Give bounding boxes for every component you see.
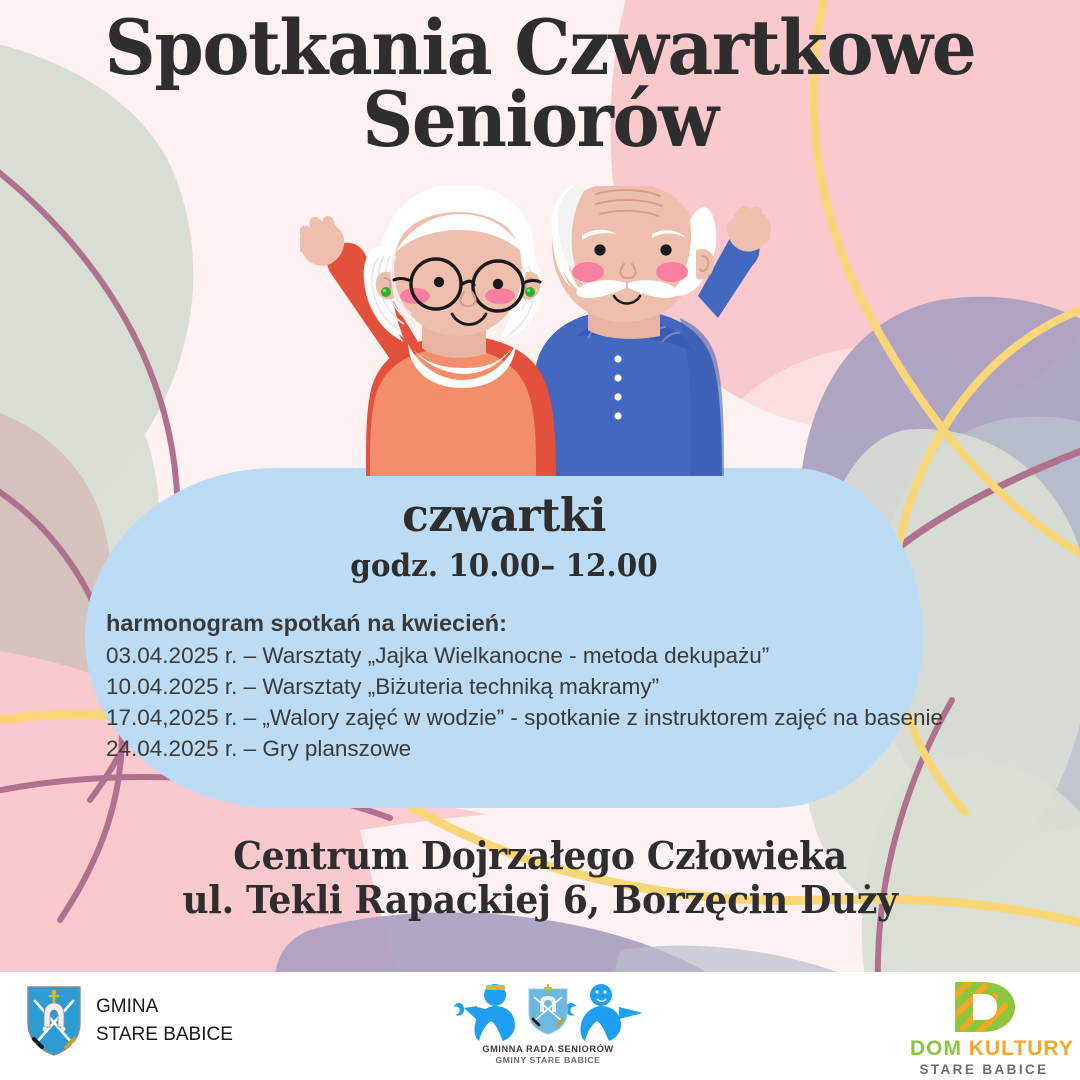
poster-title: Spotkania Czwartkowe Seniorów <box>0 12 1080 156</box>
logo-dk-title: DOM KULTURY <box>910 1037 1058 1061</box>
man-button <box>614 355 621 362</box>
schedule-item: 24.04.2025 r. – Gry planszowe <box>106 733 923 764</box>
footer-logo-bar: GMINA STARE BABICE <box>0 972 1080 1080</box>
logo-gmina-stare-babice: GMINA STARE BABICE <box>26 985 233 1057</box>
logo-dom-kultury: DOM KULTURY STARE BABICE <box>910 980 1058 1077</box>
senior-couple-waving-illustration <box>300 186 790 476</box>
stare-babice-coat-of-arms-shield-icon <box>26 985 82 1057</box>
logo-gmina-text: GMINA STARE BABICE <box>96 993 233 1048</box>
title-line-2: Seniorów <box>38 84 1042 156</box>
logo-dk-word2: KULTURY <box>969 1037 1074 1060</box>
logo-dk-subtitle: STARE BABICE <box>910 1062 1058 1077</box>
schedule-item: 10.04.2025 r. – Warsztaty „Biżuteria tec… <box>106 671 923 702</box>
two-dancing-senior-figures-with-shield-icon <box>433 981 663 1043</box>
logo-dk-word1: DOM <box>910 1037 962 1060</box>
title-line-1: Spotkania Czwartkowe <box>38 12 1042 84</box>
logo-gminna-rada-seniorow: GMINNA RADA SENIORÓW GMINY STARE BABICE <box>433 981 663 1065</box>
woman-eye-left <box>434 277 444 287</box>
woman-earring-left-glint <box>383 289 386 292</box>
woman-blouse <box>370 348 536 476</box>
man-button <box>614 393 621 400</box>
woman-eye-right <box>493 279 503 289</box>
illustration-man <box>532 186 771 476</box>
woman-cheek-right <box>485 288 515 304</box>
logo-gmina-line2: STARE BABICE <box>96 1021 233 1049</box>
poster-root: Spotkania Czwartkowe Seniorów <box>0 0 1080 1080</box>
venue-name: Centrum Dojrzałego Człowieka <box>27 834 1053 878</box>
logo-rada-line1: GMINNA RADA SENIORÓW <box>433 1044 663 1054</box>
illustration-woman <box>300 186 556 476</box>
logo-rada-line2: GMINY STARE BABICE <box>433 1055 663 1065</box>
schedule-panel-content: czwartki godz. 10.00– 12.00 harmonogram … <box>85 468 923 808</box>
dom-kultury-d-monogram-icon <box>947 980 1021 1034</box>
schedule-heading: harmonogram spotkań na kwiecień: <box>106 610 923 637</box>
schedule-item: 17.04,2025 r. – „Walory zajęć w wodzie” … <box>106 702 923 733</box>
rada-shield <box>529 985 567 1034</box>
panel-day-label: czwartki <box>106 488 902 542</box>
venue-address: ul. Tekli Rapackiej 6, Borzęcin Duży <box>27 878 1053 922</box>
venue-block: Centrum Dojrzałego Człowieka ul. Tekli R… <box>0 834 1080 923</box>
woman-earring-right-glint <box>527 289 530 292</box>
woman-earring-right <box>525 287 535 297</box>
logo-gmina-line1: GMINA <box>96 993 233 1021</box>
woman-earring-left <box>381 287 391 297</box>
man-cheek-left <box>572 262 604 282</box>
man-button <box>614 412 621 419</box>
man-hand <box>727 206 771 252</box>
rada-figure-left <box>453 984 515 1041</box>
man-eye-left <box>594 244 605 255</box>
man-cheek-right <box>656 262 688 282</box>
schedule-list: 03.04.2025 r. – Warsztaty „Jajka Wielkan… <box>106 640 923 764</box>
man-button <box>614 374 621 381</box>
panel-time-label: godz. 10.00– 12.00 <box>106 548 902 584</box>
man-eye-right <box>660 244 671 255</box>
schedule-item: 03.04.2025 r. – Warsztaty „Jajka Wielkan… <box>106 640 923 671</box>
